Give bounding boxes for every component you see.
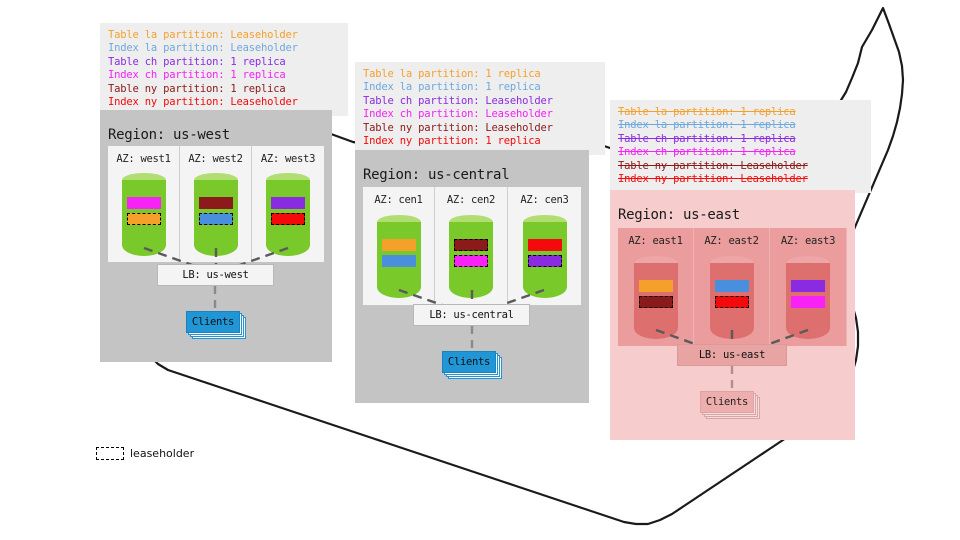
partition-band-leaseholder (454, 255, 488, 267)
az-label-west3: AZ: west3 (252, 153, 324, 165)
az-label-west2: AZ: west2 (180, 153, 251, 165)
clients-box-us-central[interactable]: Clients (442, 351, 496, 373)
az-label-cen1: AZ: cen1 (363, 194, 434, 206)
az-cell-cen3[interactable]: AZ: cen3 (508, 187, 581, 305)
partition-band (528, 239, 562, 251)
partition-note-us-west: Table la partition: Leaseholder Index la… (100, 23, 348, 116)
db-cylinder-west2[interactable] (194, 173, 238, 256)
db-cylinder-west3[interactable] (266, 173, 310, 256)
partition-band (639, 280, 673, 292)
partition-band (715, 280, 749, 292)
db-cylinder-east2[interactable] (710, 256, 754, 339)
partition-band-leaseholder (639, 296, 673, 308)
note-line: Table ny partition: Leaseholder (618, 160, 863, 173)
note-line: Table la partition: 1 replica (618, 106, 863, 119)
partition-band-leaseholder (271, 213, 305, 225)
load-balancer-us-central[interactable]: LB: us-central (413, 304, 530, 326)
az-row-us-west: AZ: west1 AZ: west2 AZ: west3 (108, 146, 324, 262)
az-label-east3: AZ: east3 (770, 235, 846, 247)
note-line: Table ch partition: Leaseholder (363, 95, 597, 108)
note-line: Index la partition: 1 replica (618, 119, 863, 132)
note-line: Index la partition: 1 replica (363, 81, 597, 94)
region-title-us-central: Region: us-central (363, 167, 509, 183)
partition-band (791, 296, 825, 308)
note-line: Index ny partition: 1 replica (363, 135, 597, 148)
note-line: Index la partition: Leaseholder (108, 42, 340, 55)
load-balancer-us-east[interactable]: LB: us-east (677, 344, 787, 366)
az-cell-west2[interactable]: AZ: west2 (180, 146, 252, 262)
az-label-cen2: AZ: cen2 (435, 194, 507, 206)
db-cylinder-cen2[interactable] (449, 215, 493, 298)
partition-band-leaseholder (199, 213, 233, 225)
note-line: Index ch partition: 1 replica (618, 146, 863, 159)
partition-note-us-central: Table la partition: 1 replica Index la p… (355, 62, 605, 155)
az-cell-east3[interactable]: AZ: east3 (770, 228, 847, 346)
db-cylinder-west1[interactable] (122, 173, 166, 256)
note-line: Table ch partition: 1 replica (108, 56, 340, 69)
az-cell-cen2[interactable]: AZ: cen2 (435, 187, 508, 305)
partition-band-leaseholder (454, 239, 488, 251)
region-title-us-west: Region: us-west (108, 127, 230, 143)
clients-stack-us-west[interactable]: Clients (186, 311, 250, 343)
note-line: Table la partition: Leaseholder (108, 29, 340, 42)
partition-band (127, 197, 161, 209)
db-cylinder-east3[interactable] (786, 256, 830, 339)
note-line: Table ny partition: Leaseholder (363, 122, 597, 135)
note-line: Table la partition: 1 replica (363, 68, 597, 81)
az-row-us-central: AZ: cen1 AZ: cen2 AZ: cen3 (363, 187, 581, 305)
note-line: Table ny partition: 1 replica (108, 83, 340, 96)
clients-box-us-east[interactable]: Clients (700, 391, 754, 413)
clients-stack-us-east[interactable]: Clients (700, 391, 764, 423)
partition-note-us-east: Table la partition: 1 replica Index la p… (610, 100, 871, 193)
db-cylinder-east1[interactable] (634, 256, 678, 339)
note-line: Index ch partition: Leaseholder (363, 108, 597, 121)
partition-band (199, 197, 233, 209)
partition-band (382, 239, 416, 251)
note-line: Index ny partition: Leaseholder (108, 96, 340, 109)
az-cell-west3[interactable]: AZ: west3 (252, 146, 324, 262)
az-cell-cen1[interactable]: AZ: cen1 (363, 187, 435, 305)
db-cylinder-cen3[interactable] (523, 215, 567, 298)
legend-label: leaseholder (130, 447, 194, 460)
dashed-rect-icon (96, 447, 124, 460)
partition-band-leaseholder (715, 296, 749, 308)
region-title-us-east: Region: us-east (618, 207, 740, 223)
az-row-us-east: AZ: east1 AZ: east2 AZ: east3 (618, 228, 847, 346)
load-balancer-us-west[interactable]: LB: us-west (157, 264, 274, 286)
az-label-west1: AZ: west1 (108, 153, 179, 165)
az-label-cen3: AZ: cen3 (508, 194, 581, 206)
partition-band-leaseholder (127, 213, 161, 225)
az-label-east2: AZ: east2 (694, 235, 769, 247)
clients-box-us-west[interactable]: Clients (186, 311, 240, 333)
partition-band (791, 280, 825, 292)
partition-band-leaseholder (528, 255, 562, 267)
partition-band (382, 255, 416, 267)
clients-stack-us-central[interactable]: Clients (442, 351, 506, 383)
az-cell-west1[interactable]: AZ: west1 (108, 146, 180, 262)
az-cell-east1[interactable]: AZ: east1 (618, 228, 694, 346)
note-line: Index ny partition: Leaseholder (618, 173, 863, 186)
db-cylinder-cen1[interactable] (377, 215, 421, 298)
partition-band (271, 197, 305, 209)
legend: leaseholder (96, 447, 194, 460)
note-line: Table ch partition: 1 replica (618, 133, 863, 146)
note-line: Index ch partition: 1 replica (108, 69, 340, 82)
az-label-east1: AZ: east1 (618, 235, 693, 247)
az-cell-east2[interactable]: AZ: east2 (694, 228, 770, 346)
